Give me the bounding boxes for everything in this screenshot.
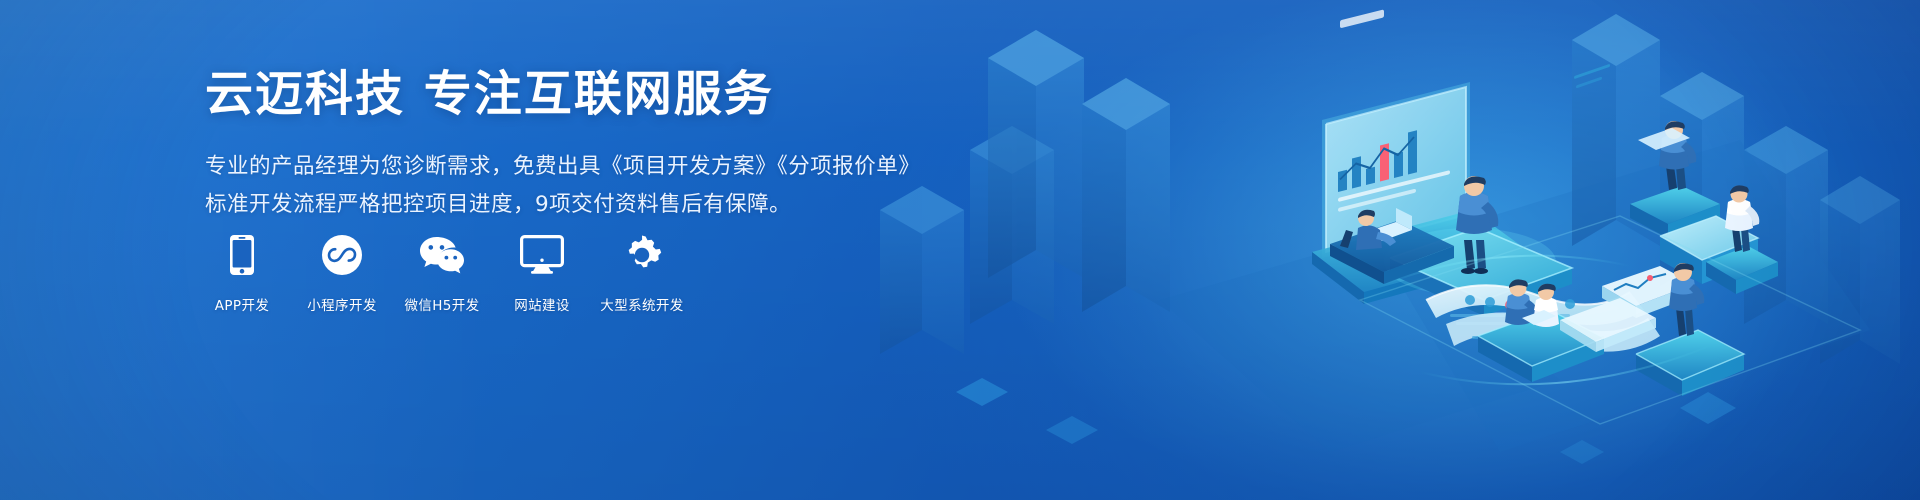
art-person-right-middle [1706, 185, 1778, 294]
mini-program-icon [321, 232, 363, 278]
isometric-illustration [860, 0, 1920, 500]
gear-icon [621, 232, 663, 278]
service-item-large-system[interactable]: 大型系统开发 [605, 232, 679, 314]
wechat-icon [418, 232, 466, 278]
service-label: 大型系统开发 [600, 294, 683, 314]
hero-banner: 云迈科技 专注互联网服务 专业的产品经理为您诊断需求，免费出具《项目开发方案》《… [0, 0, 1920, 500]
art-lower-left-group [1478, 279, 1604, 382]
art-desk-seated-person [1330, 208, 1454, 284]
service-item-wechat-h5[interactable]: 微信H5开发 [405, 232, 479, 314]
banner-subtitle-line-1: 专业的产品经理为您诊断需求，免费出具《项目开发方案》《分项报价单》 [205, 148, 965, 186]
art-lower-right-group [1636, 263, 1744, 396]
service-label: 小程序开发 [307, 294, 377, 314]
monitor-icon [520, 232, 564, 278]
mobile-phone-icon [229, 232, 255, 278]
art-dashboard-monitor [1312, 9, 1524, 304]
service-item-app[interactable]: APP开发 [205, 232, 279, 314]
service-label: 微信H5开发 [404, 294, 479, 314]
service-item-mini-program[interactable]: 小程序开发 [305, 232, 379, 314]
art-person-podium-upper [1630, 0, 1720, 238]
service-item-website[interactable]: 网站建设 [505, 232, 579, 314]
banner-copy-block: 云迈科技 专注互联网服务 专业的产品经理为您诊断需求，免费出具《项目开发方案》《… [205, 66, 965, 224]
art-floating-chart-card [1602, 266, 1694, 318]
banner-subtitle-line-2: 标准开发流程严格把控项目进度，9项交付资料售后有保障。 [205, 186, 965, 224]
art-floating-info-panel [1560, 64, 1656, 352]
service-label: APP开发 [215, 294, 270, 314]
service-icon-list: APP开发 小程序开发 微信 [205, 232, 705, 314]
art-cube-platform [1660, 216, 1758, 284]
art-person-standing-center [1456, 176, 1498, 274]
service-label: 网站建设 [514, 294, 570, 314]
page-title: 云迈科技 专注互联网服务 [205, 66, 965, 123]
art-center-platform [1384, 228, 1572, 316]
art-data-scroll [1426, 285, 1660, 351]
